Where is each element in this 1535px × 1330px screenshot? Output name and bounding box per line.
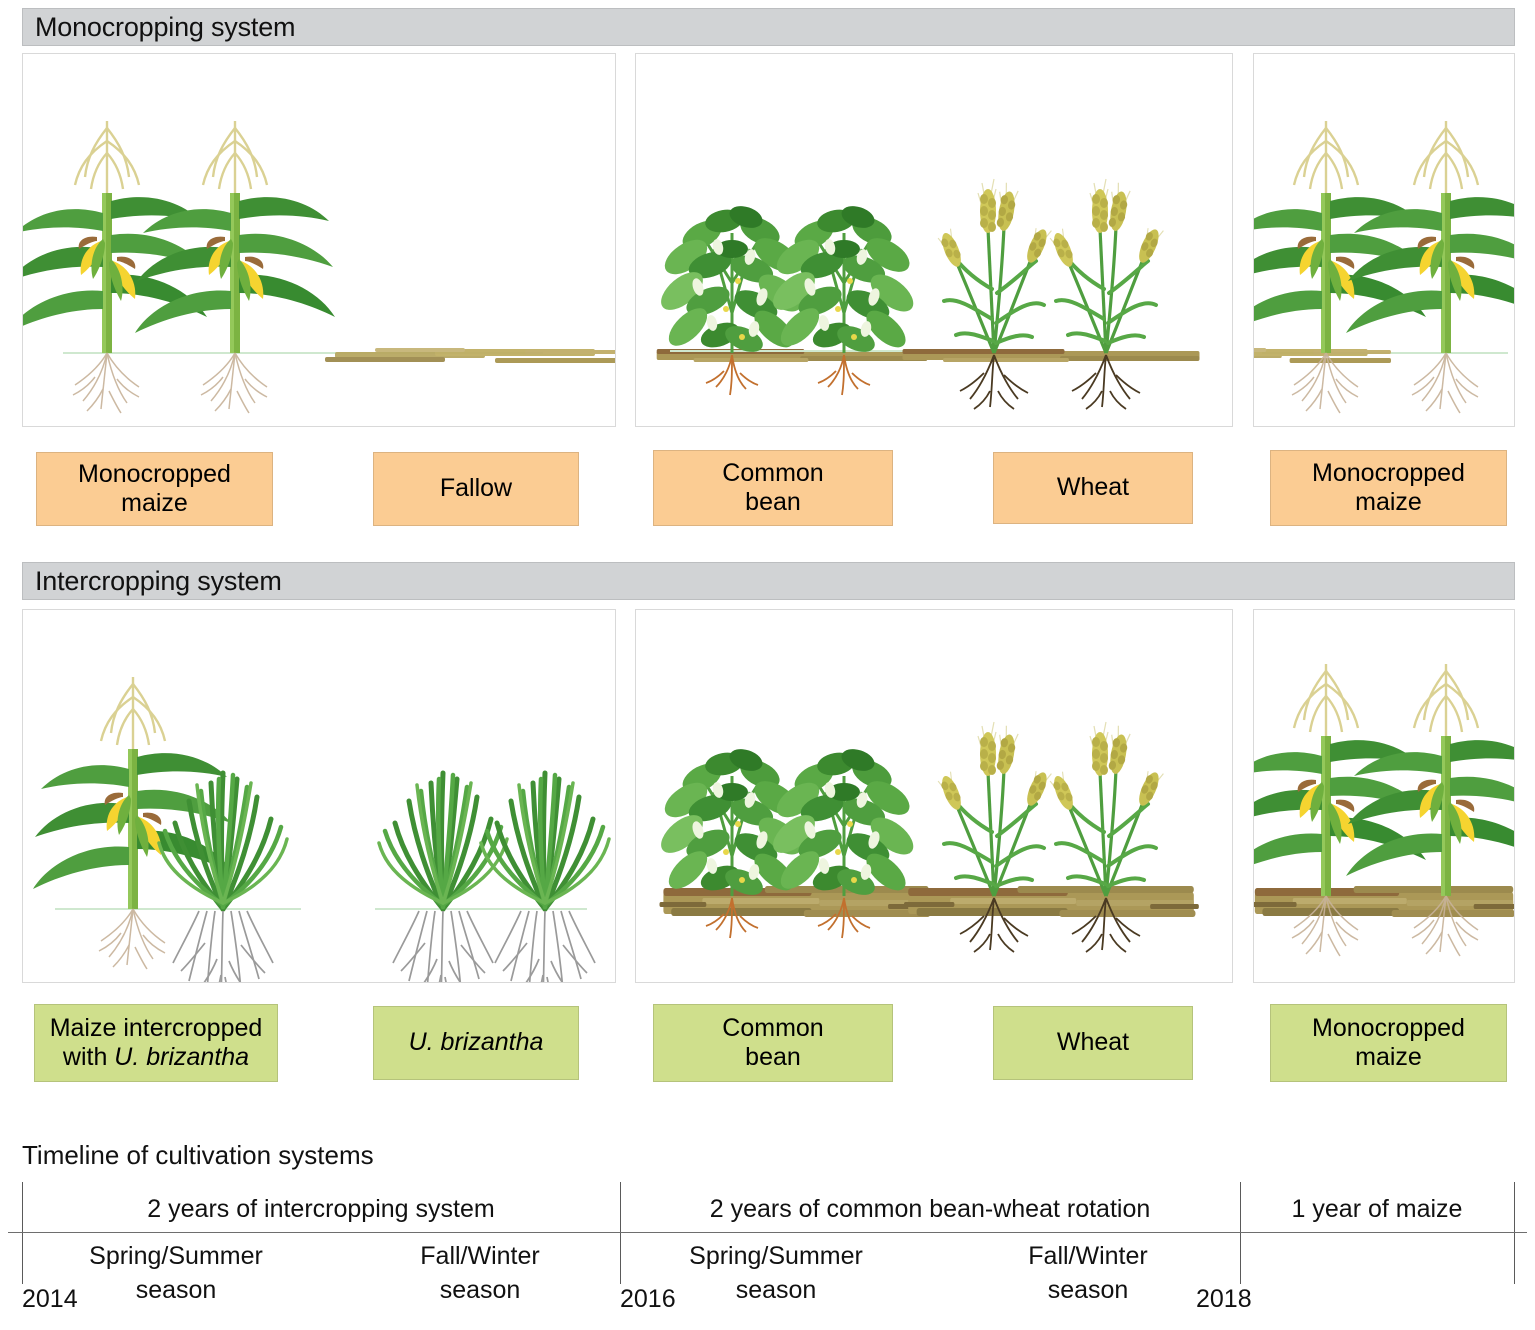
panel-mono-1	[22, 53, 616, 427]
panel-mono-1-illustration	[23, 54, 616, 427]
panel-mono-3-illustration	[1254, 54, 1515, 427]
label-wheat-inter: Wheat	[993, 1006, 1193, 1080]
timeline-season-2: Fall/Winter season	[340, 1240, 620, 1308]
label-line-2: with	[63, 1043, 114, 1071]
timeline-year-2018: 2018	[1196, 1285, 1252, 1314]
timeline-season-4: Fall/Winter season	[948, 1240, 1228, 1308]
season-line-1: Fall/Winter	[1028, 1242, 1147, 1270]
timeline-year-2014: 2014	[22, 1285, 78, 1314]
season-line-2: season	[440, 1276, 521, 1304]
season-line-2: season	[1048, 1276, 1129, 1304]
label-line-1: Wheat	[1057, 1028, 1129, 1058]
panel-inter-2-illustration	[636, 610, 1233, 983]
panel-mono-2-illustration	[636, 54, 1233, 427]
timeline-year-2016: 2016	[620, 1285, 676, 1314]
label-line-1: Monocropped	[1312, 1014, 1465, 1042]
label-line-1: Monocropped	[1312, 459, 1465, 487]
season-line-1: Fall/Winter	[420, 1242, 539, 1270]
timeline-band-rotation: 2 years of common bean-wheat rotation	[620, 1195, 1240, 1224]
season-line-1: Spring/Summer	[89, 1242, 263, 1270]
timeline-title: Timeline of cultivation systems	[22, 1140, 374, 1171]
intercropping-system-header: Intercropping system	[22, 562, 1515, 600]
panel-inter-3-illustration	[1254, 610, 1515, 983]
label-line-1: Maize intercropped	[50, 1014, 263, 1042]
label-maize-intercropped: Maize intercropped with U. brizantha	[34, 1004, 278, 1082]
label-monocropped-maize-2: Monocropped maize	[1270, 450, 1507, 526]
season-line-1: Spring/Summer	[689, 1242, 863, 1270]
label-line-1: Wheat	[1057, 473, 1129, 503]
intercropping-system-title: Intercropping system	[35, 566, 282, 597]
label-wheat-mono: Wheat	[993, 452, 1193, 524]
label-line-1: Common	[722, 1014, 823, 1042]
panel-inter-1	[22, 609, 616, 983]
panel-inter-2	[635, 609, 1233, 983]
timeline-tick-end	[1514, 1182, 1515, 1284]
label-line-2: maize	[121, 489, 188, 517]
timeline-season-3: Spring/Summer season	[636, 1240, 916, 1308]
label-species: U. brizantha	[409, 1028, 544, 1058]
label-monocropped-maize-1: Monocropped maize	[36, 452, 273, 526]
timeline-axis-line	[8, 1232, 1527, 1233]
panel-mono-2	[635, 53, 1233, 427]
label-species: U. brizantha	[114, 1043, 249, 1071]
panel-inter-3	[1253, 609, 1515, 983]
label-line-1: Common	[722, 459, 823, 487]
season-line-2: season	[736, 1276, 817, 1304]
timeline-band-maize: 1 year of maize	[1240, 1195, 1514, 1224]
season-line-2: season	[136, 1276, 217, 1304]
timeline-season-1: Spring/Summer season	[36, 1240, 316, 1308]
label-line-1: Monocropped	[78, 460, 231, 488]
panel-inter-1-illustration	[23, 610, 616, 983]
monocropping-system-title: Monocropping system	[35, 12, 295, 43]
label-common-bean-mono: Common bean	[653, 450, 893, 526]
label-monocropped-maize-inter: Monocropped maize	[1270, 1004, 1507, 1082]
monocropping-system-header: Monocropping system	[22, 8, 1515, 46]
label-common-bean-inter: Common bean	[653, 1004, 893, 1082]
panel-mono-3	[1253, 53, 1515, 427]
timeline-band-intercropping: 2 years of intercropping system	[22, 1195, 620, 1224]
label-line-2: bean	[745, 488, 801, 516]
label-line-2: maize	[1355, 488, 1422, 516]
label-line-1: Fallow	[440, 474, 512, 504]
label-line-2: maize	[1355, 1043, 1422, 1071]
label-fallow: Fallow	[373, 452, 579, 526]
label-u-brizantha: U. brizantha	[373, 1006, 579, 1080]
label-line-2: bean	[745, 1043, 801, 1071]
